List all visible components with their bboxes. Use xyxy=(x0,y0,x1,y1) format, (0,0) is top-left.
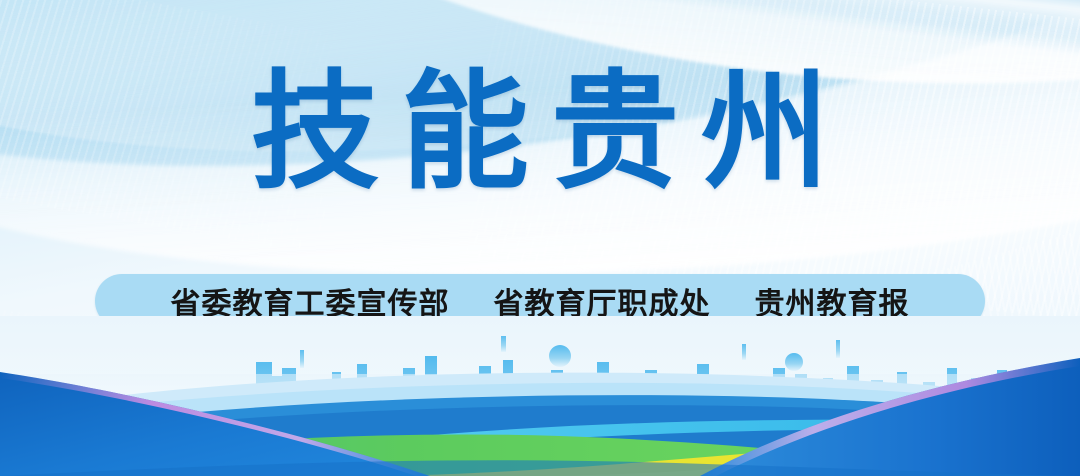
banner-graphic: 技能贵州 省委教育工委宣传部 省教育厅职成处 贵州教育报 xyxy=(0,0,1080,476)
landscape-scene xyxy=(0,316,1080,476)
landscape-svg xyxy=(0,316,1080,476)
banner-title: 技能贵州 xyxy=(0,66,1080,200)
